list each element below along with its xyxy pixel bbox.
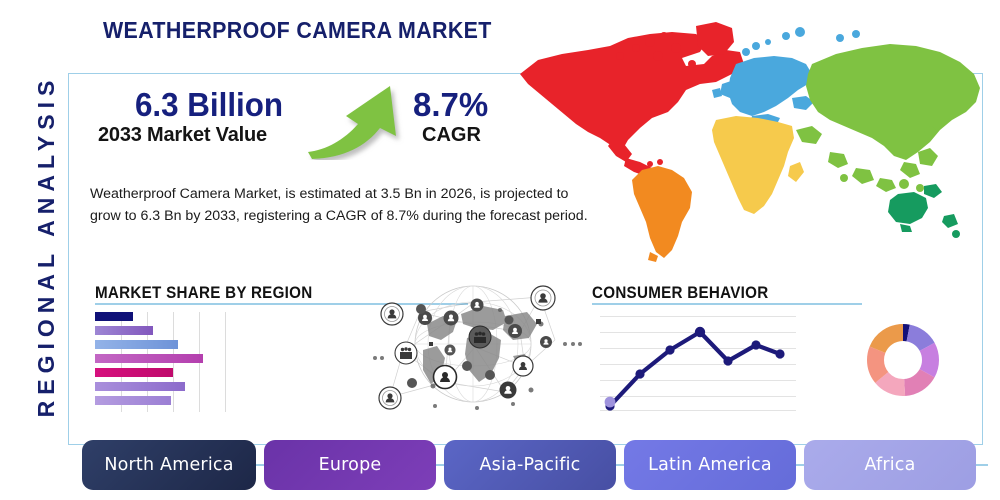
cagr-label: CAGR bbox=[422, 124, 481, 147]
line-marker-first bbox=[605, 397, 616, 408]
kpi-row: 6.3 Billion 2033 Market Value 8.7% CAGR bbox=[86, 88, 516, 168]
line-marker bbox=[665, 345, 674, 354]
market-share-bar-chart bbox=[95, 312, 255, 412]
line-marker bbox=[635, 369, 644, 378]
region-button-label: Europe bbox=[319, 455, 382, 475]
region-button-label: Africa bbox=[864, 455, 915, 475]
consumer-behavior-rule bbox=[592, 303, 862, 305]
region-button-label: Asia-Pacific bbox=[479, 455, 580, 475]
segment-donut-chart bbox=[853, 310, 953, 410]
bar-row bbox=[95, 396, 171, 405]
region-button-europe[interactable]: Europe bbox=[264, 440, 436, 490]
sidebar-vertical-label: REGIONAL ANALYSIS bbox=[26, 61, 66, 431]
bar-gridline bbox=[225, 312, 226, 412]
region-button-asia-pacific[interactable]: Asia-Pacific bbox=[444, 440, 616, 490]
region-nav: North America Europe Asia-Pacific Latin … bbox=[82, 440, 962, 490]
market-description: Weatherproof Camera Market, is estimated… bbox=[90, 183, 595, 227]
line-marker bbox=[723, 356, 732, 365]
infographic-root: REGIONAL ANALYSIS WEATHERPROOF CAMERA MA… bbox=[0, 0, 1000, 500]
cagr-number: 8.7% bbox=[413, 86, 488, 124]
market-value-label: 2033 Market Value bbox=[98, 124, 267, 147]
region-button-label: North America bbox=[104, 455, 233, 475]
consumer-behavior-line-chart bbox=[600, 312, 796, 412]
region-button-north-america[interactable]: North America bbox=[82, 440, 256, 490]
line-marker bbox=[751, 340, 760, 349]
line-marker bbox=[775, 349, 784, 358]
bar-row bbox=[95, 354, 203, 363]
bar-row bbox=[95, 312, 133, 321]
line-marker bbox=[695, 327, 705, 337]
bar-row bbox=[95, 326, 153, 335]
global-network-globe-icon bbox=[365, 272, 585, 417]
bar-row bbox=[95, 382, 185, 391]
growth-arrow-icon bbox=[304, 80, 414, 160]
world-map-icon bbox=[500, 12, 990, 267]
region-button-latin-america[interactable]: Latin America bbox=[624, 440, 796, 490]
market-share-heading: MARKET SHARE BY REGION bbox=[95, 284, 312, 303]
page-title: WEATHERPROOF CAMERA MARKET bbox=[103, 17, 492, 44]
consumer-behavior-heading: CONSUMER BEHAVIOR bbox=[592, 284, 768, 303]
bar-row bbox=[95, 368, 173, 377]
region-button-label: Latin America bbox=[648, 455, 772, 475]
bar-row bbox=[95, 340, 178, 349]
market-value-number: 6.3 Billion bbox=[135, 86, 283, 124]
region-button-africa[interactable]: Africa bbox=[804, 440, 976, 490]
region-connector bbox=[974, 464, 988, 466]
